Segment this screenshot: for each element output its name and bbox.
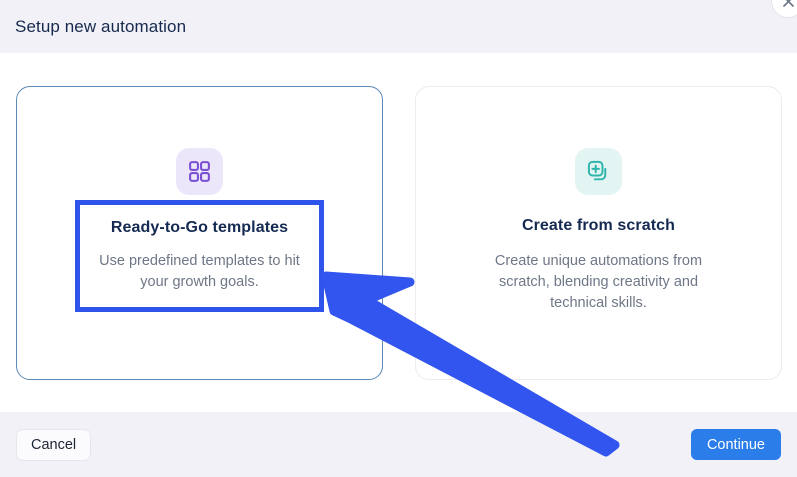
card-heading: Create from scratch xyxy=(522,217,675,235)
add-layers-plus-icon-glyph xyxy=(586,159,611,184)
add-layers-plus-icon xyxy=(575,148,622,195)
page-title: Setup new automation xyxy=(15,17,186,37)
dialog-header: Setup new automation xyxy=(0,0,797,53)
dialog-footer: Cancel Continue xyxy=(0,412,797,477)
option-card-ready-to-go-templates[interactable]: Ready-to-Go templates Use predefined tem… xyxy=(16,86,383,380)
close-icon-glyph xyxy=(782,0,795,8)
card-description: Use predefined templates to hit your gro… xyxy=(75,251,325,293)
option-card-create-from-scratch[interactable]: Create from scratch Create unique automa… xyxy=(415,86,782,380)
grid-squares-icon xyxy=(176,148,223,195)
grid-squares-icon-glyph xyxy=(187,159,212,184)
card-description: Create unique automations from scratch, … xyxy=(474,251,724,314)
card-heading: Ready-to-Go templates xyxy=(111,217,288,235)
cancel-button[interactable]: Cancel xyxy=(16,429,91,461)
setup-automation-dialog: Setup new automation Ready-to-Go templat… xyxy=(0,0,797,477)
close-icon[interactable] xyxy=(771,0,797,18)
dialog-body: Ready-to-Go templates Use predefined tem… xyxy=(0,53,797,412)
continue-button[interactable]: Continue xyxy=(691,429,781,460)
